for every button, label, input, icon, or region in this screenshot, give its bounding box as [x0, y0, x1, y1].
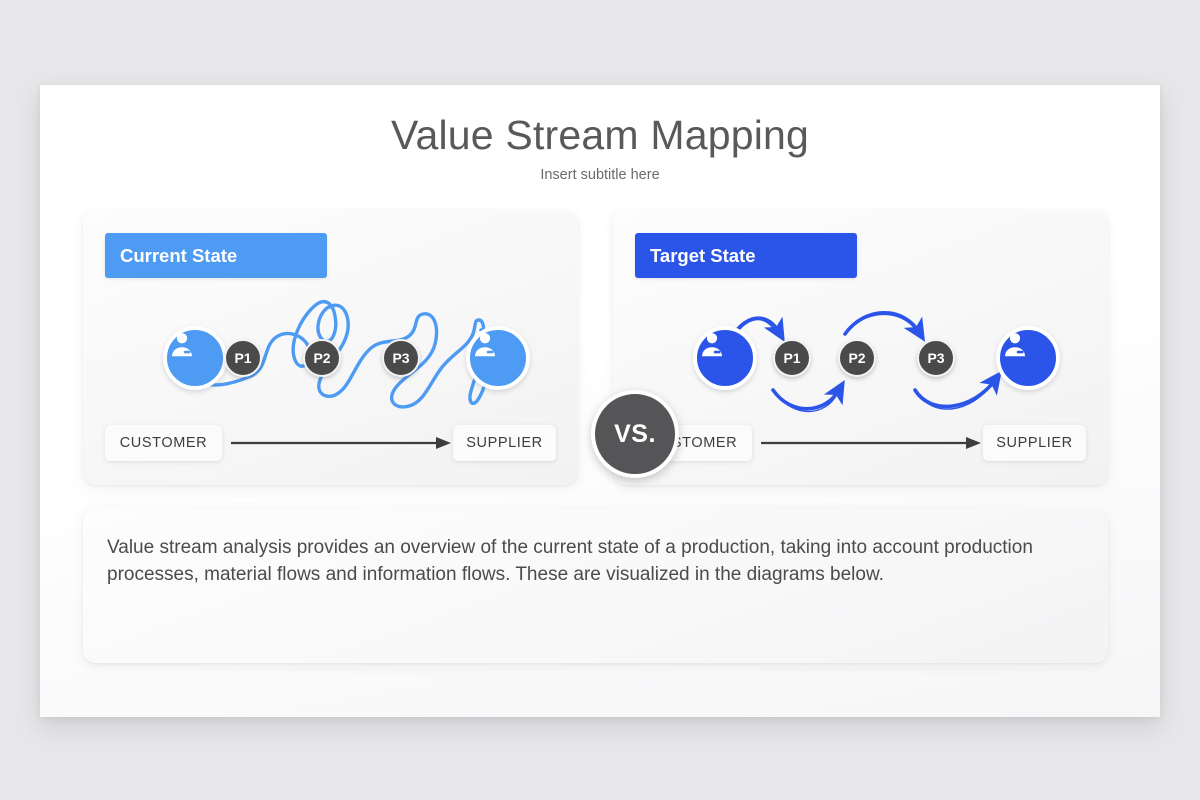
node-supplier-person-target[interactable]: [996, 326, 1060, 390]
process-label: P2: [848, 350, 865, 366]
flow-diagram-target: P1 P2 P3: [613, 298, 1108, 418]
slide-canvas: Value Stream Mapping Insert subtitle her…: [40, 85, 1160, 717]
flow-diagram-current: P1 P2 P3: [83, 298, 578, 418]
panel-target-state[interactable]: Target State: [613, 210, 1108, 485]
node-process-p2-current[interactable]: P2: [303, 339, 341, 377]
process-label: P2: [313, 350, 330, 366]
node-process-p1-target[interactable]: P1: [773, 339, 811, 377]
endbox-supplier-current[interactable]: SUPPLIER: [453, 425, 556, 461]
customer-supplier-bar-current: CUSTOMER SUPPLIER: [105, 425, 556, 461]
state-tag-current: Current State: [105, 233, 327, 278]
node-process-p3-current[interactable]: P3: [382, 339, 420, 377]
page-title: Value Stream Mapping: [40, 112, 1160, 159]
process-label: P3: [927, 350, 944, 366]
vs-badge: VS.: [591, 390, 679, 478]
page-subtitle: Insert subtitle here: [40, 167, 1160, 183]
node-customer-person-target[interactable]: [693, 326, 757, 390]
node-process-p1-current[interactable]: P1: [224, 339, 262, 377]
process-label: P3: [392, 350, 409, 366]
node-customer-person-current[interactable]: [163, 326, 227, 390]
process-label: P1: [234, 350, 251, 366]
state-tag-target: Target State: [635, 233, 857, 278]
endbox-supplier-target[interactable]: SUPPLIER: [983, 425, 1086, 461]
endbox-customer-current[interactable]: CUSTOMER: [105, 425, 222, 461]
process-label: P1: [783, 350, 800, 366]
node-process-p3-target[interactable]: P3: [917, 339, 955, 377]
node-supplier-person-current[interactable]: [466, 326, 530, 390]
description-card: Value stream analysis provides an overvi…: [83, 508, 1108, 663]
node-process-p2-target[interactable]: P2: [838, 339, 876, 377]
customer-supplier-bar-target: CUSTOMER SUPPLIER: [635, 425, 1086, 461]
description-text: Value stream analysis provides an overvi…: [107, 535, 1085, 589]
panel-current-state[interactable]: Current State P1 P2: [83, 210, 578, 485]
